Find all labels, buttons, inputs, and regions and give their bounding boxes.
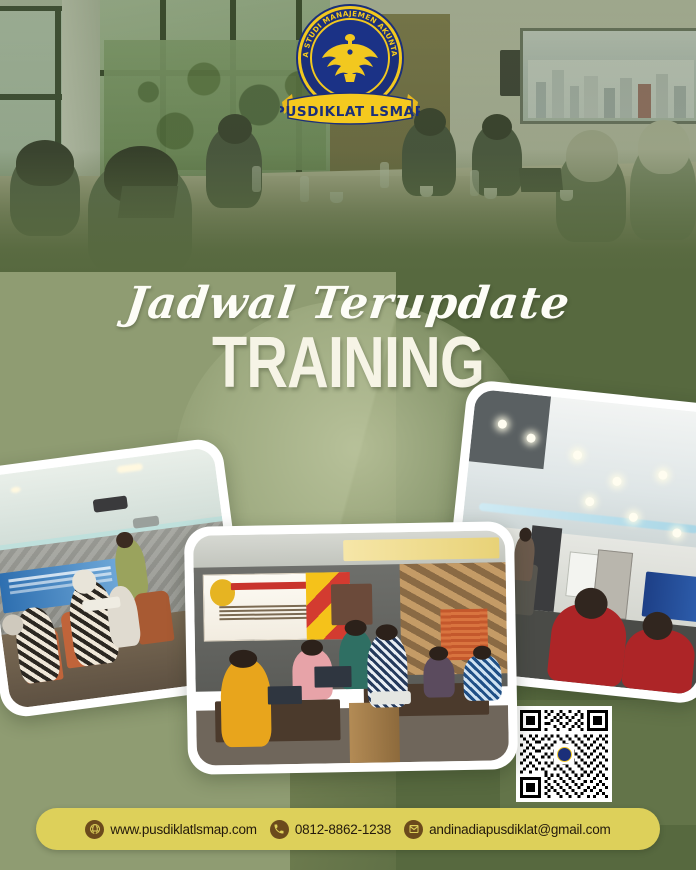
training-laptop [267, 686, 302, 705]
logo-ribbon-banner: PUSDIKLAT LSMAP [280, 88, 420, 128]
svg-text:PUSDIKLAT LSMAP: PUSDIKLAT LSMAP [280, 104, 420, 120]
footer-email-item[interactable]: andinadiapusdiklat@gmail.com [404, 820, 610, 839]
garuda-eagle-icon [320, 28, 380, 86]
training-attendee-head [301, 639, 323, 655]
training-podium [349, 702, 400, 763]
contact-footer-bar: www.pusdiklatlsmap.com 0812-8862-1238 an… [36, 808, 660, 850]
photo-card-center-image [193, 530, 509, 765]
training-projector [370, 691, 411, 706]
photo-card-center [184, 521, 518, 775]
conference-ceiling-dark [469, 389, 551, 470]
footer-phone-text: 0812-8862-1238 [295, 822, 391, 837]
training-attendee [220, 659, 271, 747]
qr-center-logo-disc [557, 747, 572, 762]
qr-center-logo [554, 744, 574, 764]
training-cove-light [343, 537, 499, 560]
training-attendee [463, 655, 501, 702]
pusdiklat-lsmap-logo: LEMBAGA STUDI MANAJEMEN AKUNTANSI DAN PE… [276, 4, 422, 144]
footer-email-text: andinadiapusdiklat@gmail.com [429, 822, 610, 837]
training-attendee-head [429, 646, 448, 660]
training-attendee [423, 655, 455, 697]
globe-icon [85, 820, 104, 839]
training-laptop [314, 666, 352, 687]
ceiling-downlight [572, 450, 582, 460]
footer-phone-item[interactable]: 0812-8862-1238 [270, 820, 391, 839]
envelope-icon [404, 820, 423, 839]
footer-website-text: www.pusdiklatlsmap.com [110, 822, 256, 837]
footer-website-item[interactable]: www.pusdiklatlsmap.com [85, 820, 256, 839]
page-subtitle: Jadwal Terupdate [0, 278, 696, 329]
poster-root: LEMBAGA STUDI MANAJEMEN AKUNTANSI DAN PE… [0, 0, 696, 870]
training-banner-photo [331, 583, 372, 625]
phone-icon [270, 820, 289, 839]
